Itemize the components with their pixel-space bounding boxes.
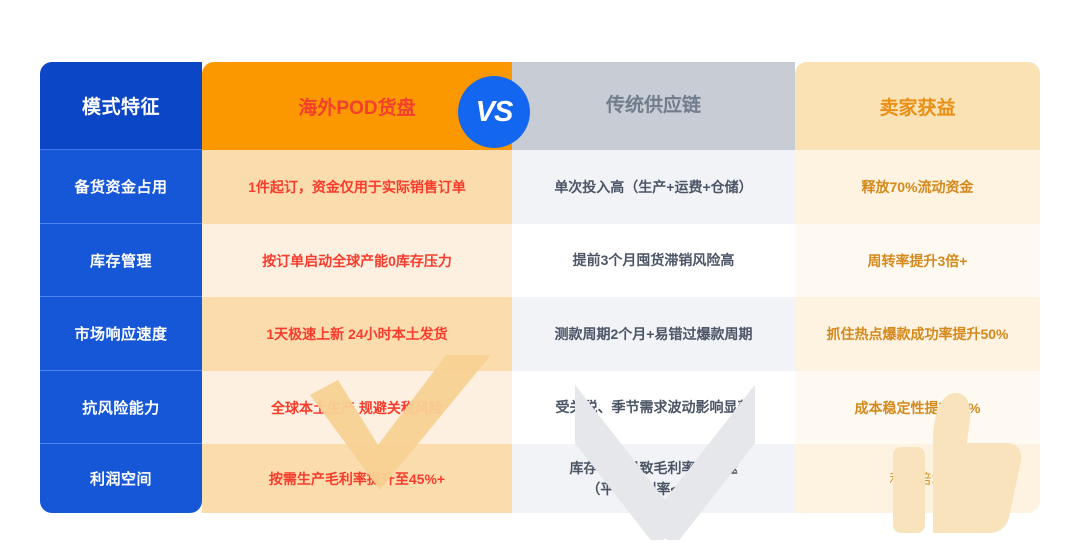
header-pod-label: 海外POD货盘 — [298, 93, 415, 120]
row-3-gains-text: 抓住热点爆款成功率提升50% — [826, 324, 1008, 344]
row-1-gains: 释放70%流动资金 — [795, 150, 1040, 224]
row-2-pod-text: 按订单启动全球产能0库存压力 — [262, 251, 452, 271]
row-label-4-text: 抗风险能力 — [82, 397, 160, 418]
header-gains-label: 卖家获益 — [879, 93, 955, 120]
row-5-traditional: 库存积压导致毛利率被吞噬 （平均毛利率<30%） — [512, 444, 795, 513]
row-4-pod: 全球本土生产 规避关税风险 — [202, 371, 512, 444]
header-feature-label: 模式特征 — [82, 92, 160, 119]
row-5-gains: 利润倍增 — [795, 444, 1040, 513]
row-label-5-text: 利润空间 — [90, 468, 152, 489]
row-label-4: 抗风险能力 — [40, 371, 202, 444]
row-label-1-text: 备货资金占用 — [74, 176, 167, 197]
row-3-traditional: 测款周期2个月+易错过爆款周期 — [512, 297, 795, 371]
row-1-pod-text: 1件起订，资金仅用于实际销售订单 — [248, 177, 466, 197]
row-label-1: 备货资金占用 — [40, 150, 202, 224]
row-4-traditional-text: 受关税、季节需求波动影响显著 — [556, 397, 752, 418]
vs-badge: VS — [458, 76, 530, 148]
row-1-traditional: 单次投入高（生产+运费+仓储） — [512, 150, 795, 224]
header-traditional: 传统供应链 — [512, 62, 795, 150]
row-2-traditional: 提前3个月囤货滞销风险高 — [512, 224, 795, 297]
header-feature: 模式特征 — [40, 62, 202, 150]
row-5-gains-text: 利润倍增 — [890, 469, 946, 489]
row-3-gains: 抓住热点爆款成功率提升50% — [795, 297, 1040, 371]
row-2-pod: 按订单启动全球产能0库存压力 — [202, 224, 512, 297]
row-2-gains: 周转率提升3倍+ — [795, 224, 1040, 297]
row-5-traditional-line1: 库存积压导致毛利率被吞噬 — [570, 458, 738, 479]
row-5-traditional-text: 库存积压导致毛利率被吞噬 （平均毛利率<30%） — [570, 458, 738, 500]
row-5-pod: 按需生产毛利率提升至45%+ — [202, 444, 512, 513]
row-3-pod-text: 1天极速上新 24小时本土发货 — [266, 324, 447, 344]
comparison-table: 模式特征 海外POD货盘 传统供应链 卖家获益 备货资金占用 1件起订，资金仅用… — [40, 62, 1040, 513]
header-gains: 卖家获益 — [795, 62, 1040, 150]
row-4-traditional: 受关税、季节需求波动影响显著 — [512, 371, 795, 444]
row-label-2: 库存管理 — [40, 224, 202, 297]
row-2-traditional-text: 提前3个月囤货滞销风险高 — [573, 250, 735, 271]
row-1-gains-text: 释放70%流动资金 — [861, 177, 973, 197]
row-3-traditional-text: 测款周期2个月+易错过爆款周期 — [555, 324, 753, 345]
row-label-5: 利润空间 — [40, 444, 202, 513]
row-1-pod: 1件起订，资金仅用于实际销售订单 — [202, 150, 512, 224]
row-label-2-text: 库存管理 — [90, 250, 152, 271]
row-label-3: 市场响应速度 — [40, 297, 202, 371]
row-2-gains-text: 周转率提升3倍+ — [868, 251, 968, 271]
row-3-pod: 1天极速上新 24小时本土发货 — [202, 297, 512, 371]
header-traditional-label: 传统供应链 — [606, 92, 701, 121]
row-label-3-text: 市场响应速度 — [74, 323, 167, 344]
row-4-gains: 成本稳定性提升50% — [795, 371, 1040, 444]
row-1-traditional-text: 单次投入高（生产+运费+仓储） — [554, 177, 752, 198]
vs-badge-label: VS — [476, 96, 513, 129]
row-5-traditional-line2: （平均毛利率<30%） — [570, 479, 738, 500]
row-5-pod-text: 按需生产毛利率提升至45%+ — [269, 469, 445, 489]
row-4-pod-text: 全球本土生产 规避关税风险 — [271, 398, 443, 418]
infographic-canvas: 模式特征 海外POD货盘 传统供应链 卖家获益 备货资金占用 1件起订，资金仅用… — [0, 0, 1080, 551]
row-4-gains-text: 成本稳定性提升50% — [854, 398, 980, 418]
